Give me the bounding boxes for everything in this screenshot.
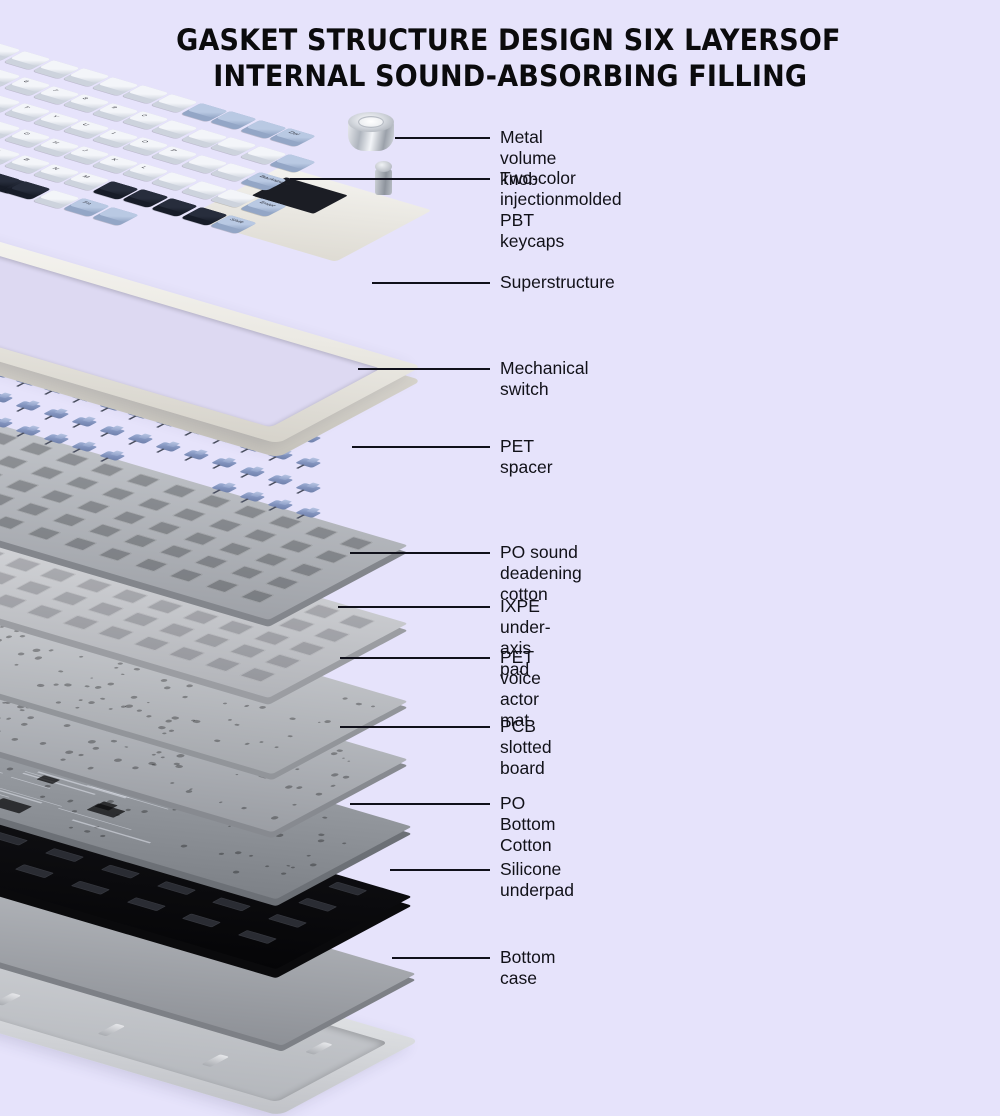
case-standoff — [305, 1042, 333, 1055]
leader-line-po-bottom-cotton — [350, 803, 490, 805]
callout-label-superstructure: Superstructure — [500, 272, 615, 293]
callout-label-silicone-underpad: Silicone underpad — [500, 859, 574, 901]
leader-line-mechanical-switch — [358, 368, 490, 370]
case-standoff — [201, 1054, 229, 1067]
mechanical-switch — [0, 391, 17, 403]
mechanical-switch — [155, 440, 185, 452]
title-line-2: INTERNAL SOUND-ABSORBING FILLING — [35, 58, 965, 94]
mechanical-switch — [295, 506, 325, 518]
leader-line-metal-volume-knob — [395, 137, 490, 139]
mechanical-switch — [211, 481, 241, 493]
mechanical-switch — [43, 407, 73, 419]
mechanical-switch — [99, 424, 129, 436]
callout-label-mechanical-switch: Mechanical switch — [500, 358, 589, 400]
case-standoff — [97, 1024, 125, 1037]
leader-line-two-color-keycaps — [290, 178, 490, 180]
knob-inner-ring — [358, 116, 384, 128]
mechanical-switch — [267, 473, 297, 485]
mechanical-switch — [183, 448, 213, 460]
mechanical-switch — [295, 481, 325, 493]
mechanical-switch — [0, 416, 17, 428]
callout-label-pcb-slotted-board: PCB slotted board — [500, 716, 552, 779]
callout-label-bottom-case: Bottom case — [500, 947, 555, 989]
leader-line-bottom-case — [392, 957, 490, 959]
mechanical-switch — [267, 498, 297, 510]
mechanical-switch — [239, 490, 269, 502]
knob-post — [375, 169, 392, 195]
title-line-1: GASKET STRUCTURE DESIGN SIX LAYERSOF — [35, 22, 965, 58]
mechanical-switch — [211, 456, 241, 468]
mechanical-switch — [15, 399, 45, 411]
leader-line-ixpe-under-axis-pad — [338, 606, 490, 608]
leader-line-pcb-slotted-board — [340, 726, 490, 728]
mechanical-switch — [43, 432, 73, 444]
mechanical-switch — [239, 465, 269, 477]
mechanical-switch — [15, 424, 45, 436]
mechanical-switch — [99, 449, 129, 461]
leader-line-superstructure — [372, 282, 490, 284]
mechanical-switch — [295, 456, 325, 468]
mechanical-switch — [71, 415, 101, 427]
mechanical-switch — [71, 440, 101, 452]
callout-label-po-bottom-cotton: PO Bottom Cotton — [500, 793, 555, 856]
knob-post-top — [375, 161, 392, 172]
callout-label-pet-spacer: PET spacer — [500, 436, 553, 478]
leader-line-pet-voice-actor-mat — [340, 657, 490, 659]
page-title: GASKET STRUCTURE DESIGN SIX LAYERSOF INT… — [0, 22, 1000, 94]
leader-line-silicone-underpad — [390, 869, 490, 871]
case-standoff — [0, 993, 21, 1006]
leader-line-pet-spacer — [352, 446, 490, 448]
leader-line-po-sound-deadening — [350, 552, 490, 554]
callout-label-two-color-keycaps: Two-color injectionmolded PBT keycaps — [500, 168, 622, 252]
mechanical-switch — [127, 432, 157, 444]
